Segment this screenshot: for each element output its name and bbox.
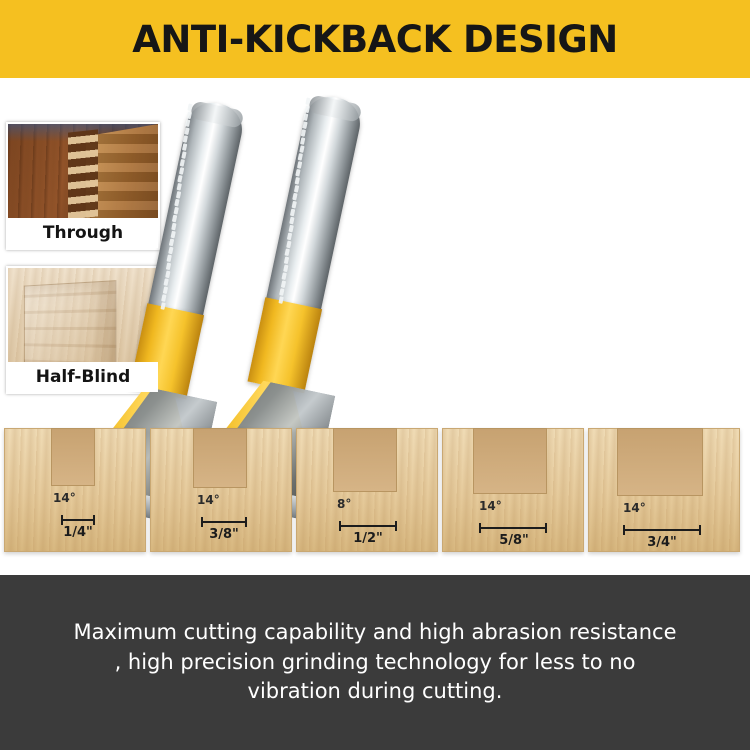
wood-block-1-dim-line: [61, 519, 95, 521]
wood-block-2: 14° 3/8": [150, 428, 292, 552]
wood-block-4: 14° 5/8": [442, 428, 584, 552]
through-dovetail-label: Through: [8, 218, 158, 248]
router-bit-left-shank: [265, 92, 365, 317]
wood-block-3-angle: 8°: [337, 497, 351, 511]
footer-line-2: , high precision grinding technology for…: [115, 648, 636, 678]
router-bit-left-body: [247, 297, 322, 393]
wood-block-3-groove: [333, 428, 397, 492]
wood-block-3-dim-line: [339, 525, 397, 527]
wood-sample-row: 14° 1/4" 14° 3/8" 8° 1/2" 14°: [0, 428, 750, 575]
wood-block-5-size: 3/4": [623, 535, 701, 550]
wood-block-4-groove: [473, 428, 547, 494]
wood-block-4-dim-line: [479, 527, 547, 529]
wood-block-1-groove: [51, 428, 95, 486]
wood-block-1: 14° 1/4": [4, 428, 146, 552]
wood-block-3-size: 1/2": [333, 531, 403, 546]
footer-line-3: vibration during cutting.: [248, 677, 503, 707]
wood-block-5-groove: [617, 428, 703, 496]
header-banner: ANTI-KICKBACK DESIGN: [0, 0, 750, 78]
product-photo-area: Through Half-Blind: [0, 78, 750, 575]
half-blind-dovetail-sample: Half-Blind: [6, 266, 160, 394]
product-infographic: ANTI-KICKBACK DESIGN Through Half-Blind: [0, 0, 750, 750]
half-blind-dovetail-label: Half-Blind: [8, 362, 158, 392]
router-bit-right-shank-tip: [190, 100, 245, 128]
wood-block-5: 14° 3/4": [588, 428, 740, 552]
page-title: ANTI-KICKBACK DESIGN: [132, 21, 618, 58]
wood-block-2-angle: 14°: [197, 493, 220, 507]
wood-block-2-size: 3/8": [189, 527, 259, 542]
footer-line-1: Maximum cutting capability and high abra…: [73, 618, 676, 648]
wood-block-5-angle: 14°: [623, 501, 646, 515]
wood-block-1-size: 1/4": [45, 525, 111, 540]
wood-block-1-angle: 14°: [53, 491, 76, 505]
wood-block-5-dim-line: [623, 529, 701, 531]
wood-block-4-size: 5/8": [477, 533, 551, 548]
footer-caption: Maximum cutting capability and high abra…: [0, 575, 750, 750]
through-dovetail-sample: Through: [6, 122, 160, 250]
router-bit-left-shank-tip: [308, 94, 363, 122]
wood-block-3: 8° 1/2": [296, 428, 438, 552]
wood-block-4-angle: 14°: [479, 499, 502, 513]
wood-block-2-groove: [193, 428, 247, 488]
wood-block-2-dim-line: [201, 521, 247, 523]
router-bit-right-shank: [147, 98, 247, 323]
